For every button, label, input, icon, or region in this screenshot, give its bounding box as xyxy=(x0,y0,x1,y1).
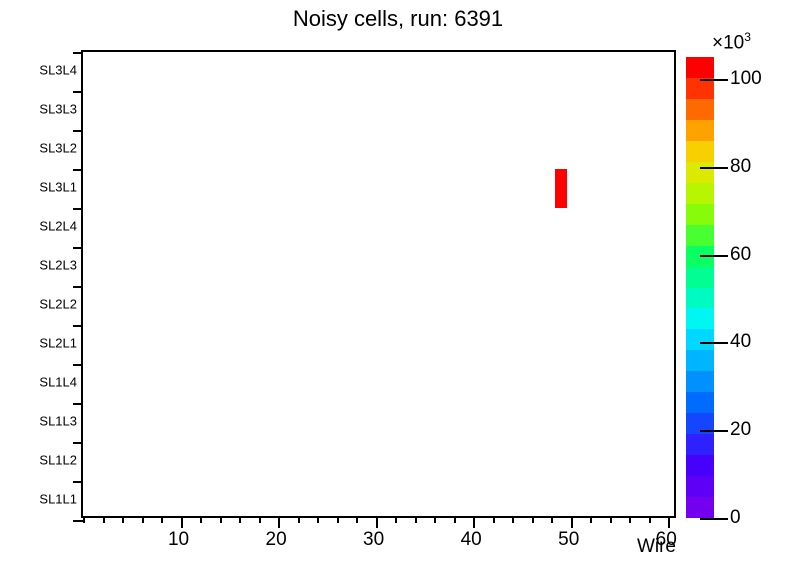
plot-area xyxy=(83,52,674,516)
y-axis-tick-label: SL3L4 xyxy=(39,62,77,77)
y-axis-tick-label: SL3L2 xyxy=(39,140,77,155)
z-axis-exponent-label: ×103 xyxy=(712,30,751,54)
y-axis-tick xyxy=(73,130,83,132)
z-axis-tick-label: 80 xyxy=(730,156,751,178)
y-axis-tick xyxy=(73,364,83,366)
page-title: Noisy cells, run: 6391 xyxy=(0,6,796,32)
z-axis-tick-label: 0 xyxy=(730,507,741,529)
z-axis-tick xyxy=(700,167,728,169)
z-axis-tick xyxy=(700,255,728,257)
y-axis-tick-label: SL1L2 xyxy=(39,452,77,467)
root-canvas: Noisy cells, run: 6391 SL1L1SL1L2SL1L3SL… xyxy=(0,0,796,572)
y-axis-tick-label: SL1L1 xyxy=(39,491,77,506)
z-axis-tick xyxy=(700,518,728,520)
z-axis-tick-label: 100 xyxy=(730,68,762,90)
z-axis-tick-label: 60 xyxy=(730,244,751,266)
z-axis-tick xyxy=(700,342,728,344)
y-axis-tick xyxy=(73,91,83,93)
y-axis-tick xyxy=(73,481,83,483)
plot-frame xyxy=(81,50,676,518)
y-axis-tick-label: SL3L3 xyxy=(39,101,77,116)
y-axis-tick xyxy=(73,403,83,405)
z-axis-tick xyxy=(700,79,728,81)
y-axis-tick xyxy=(73,325,83,327)
z-axis-tick-label: 40 xyxy=(730,331,751,353)
y-axis-tick xyxy=(73,286,83,288)
z-axis-tick-label: 20 xyxy=(730,419,751,441)
z-axis-tick xyxy=(700,430,728,432)
y-axis-tick-label: SL3L1 xyxy=(39,179,77,194)
y-axis-tick-label: SL1L3 xyxy=(39,413,77,428)
x-axis-title: Wire xyxy=(0,536,676,558)
y-axis-tick xyxy=(73,247,83,249)
heatmap-cell xyxy=(555,169,567,208)
y-axis-tick-label: SL2L4 xyxy=(39,218,77,233)
y-axis-tick xyxy=(73,169,83,171)
y-axis-tick-label: SL2L2 xyxy=(39,296,77,311)
y-axis-tick-label: SL2L3 xyxy=(39,257,77,272)
color-palette-axis: 020406080100 xyxy=(686,57,786,518)
y-axis-tick-label: SL1L4 xyxy=(39,374,77,389)
y-axis-tick xyxy=(73,442,83,444)
y-axis-tick-label: SL2L1 xyxy=(39,335,77,350)
y-axis-tick xyxy=(73,208,83,210)
y-axis-tick xyxy=(73,52,83,54)
